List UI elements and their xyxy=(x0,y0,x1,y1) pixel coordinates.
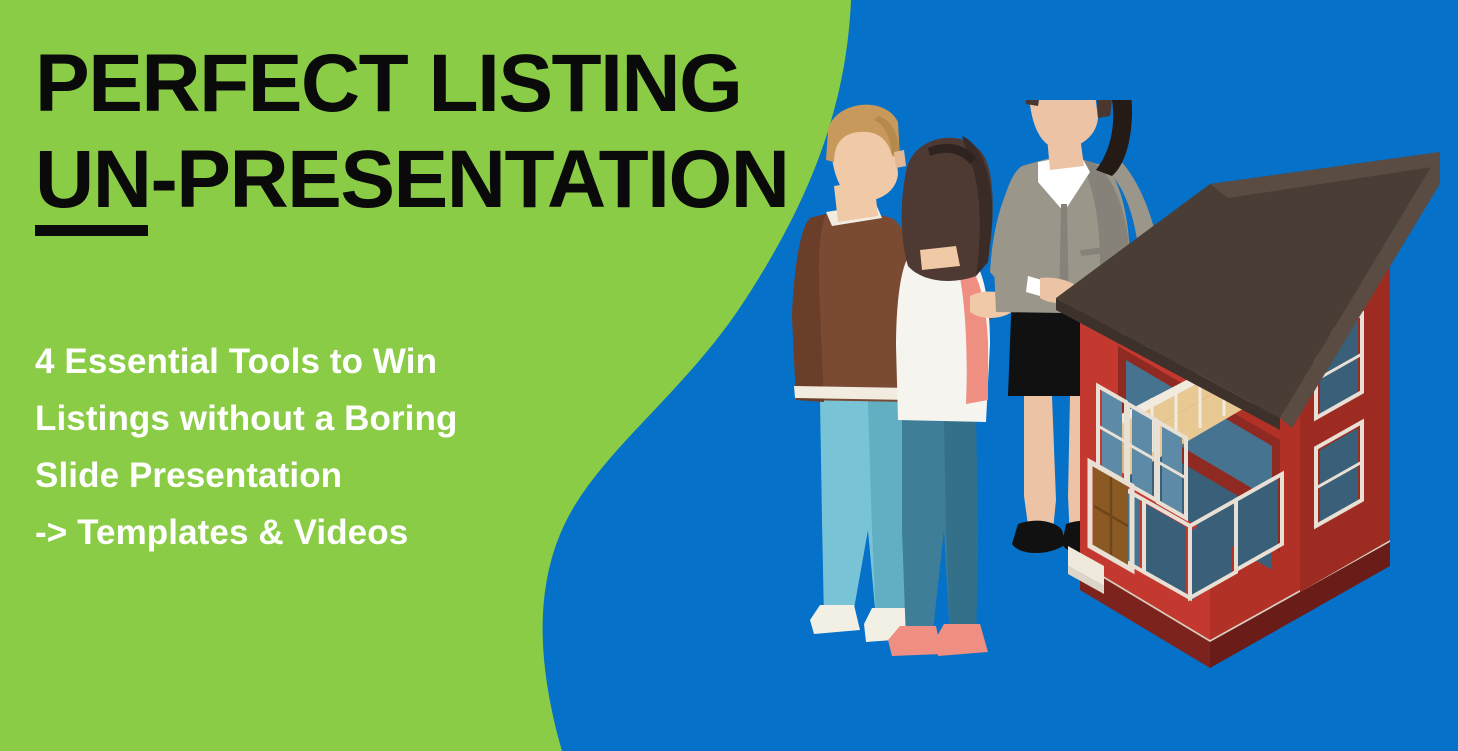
slide-canvas: PERFECT LISTING UN-PRESENTATION 4 Essent… xyxy=(0,0,1458,751)
man-ear xyxy=(894,150,906,168)
man-shoe-left xyxy=(810,605,860,634)
woman-jeans-shadow xyxy=(944,418,978,640)
realtor-showing-house-illustration xyxy=(780,100,1440,700)
realtor-leg-left xyxy=(1024,396,1056,540)
realtor-shoe-left xyxy=(1012,521,1066,553)
woman-buyer-figure xyxy=(888,136,1012,656)
illustration-svg xyxy=(780,100,1440,700)
realtor-head xyxy=(1029,100,1098,148)
woman-shoe-right xyxy=(936,624,988,656)
woman-neck xyxy=(920,246,960,270)
man-jacket-hem xyxy=(794,386,914,400)
